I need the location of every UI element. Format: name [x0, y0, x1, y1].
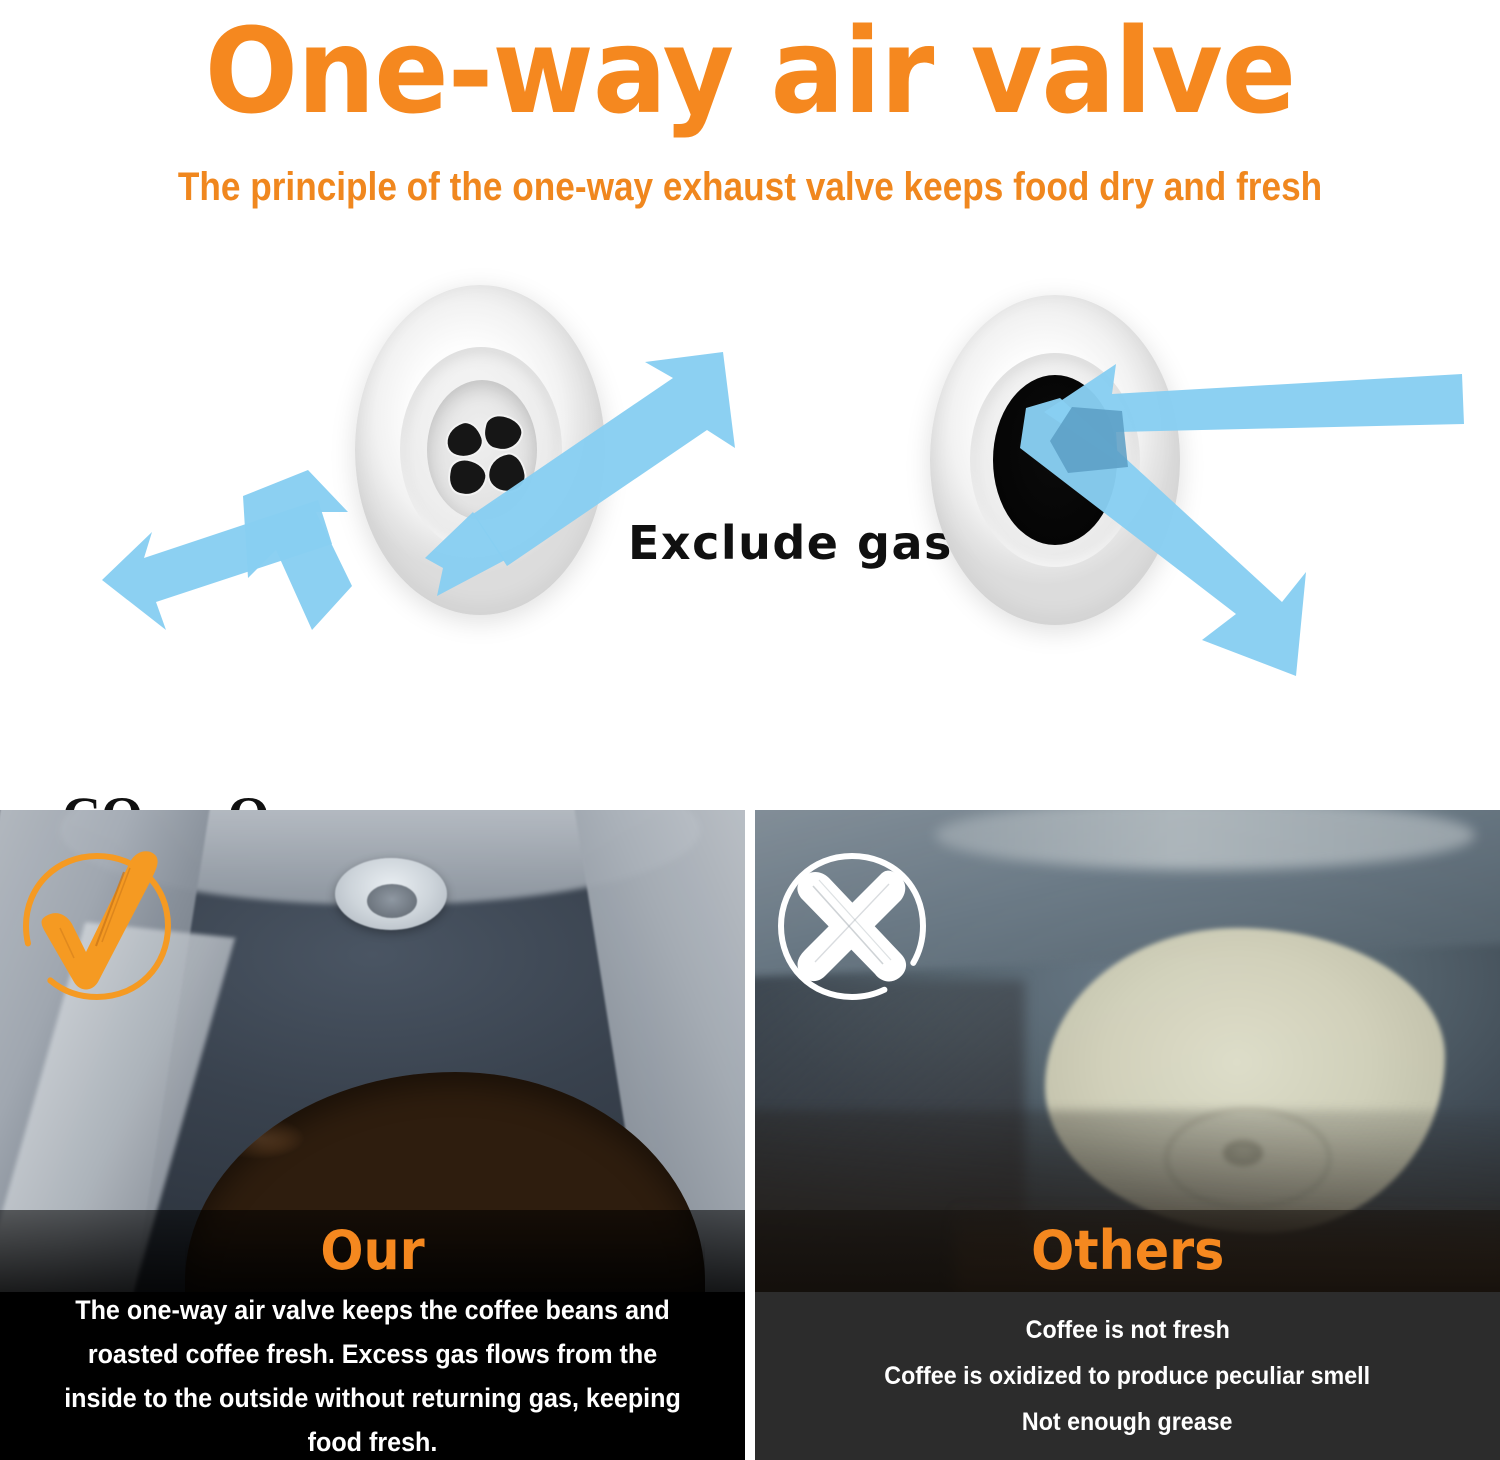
panel-divider	[745, 810, 755, 1460]
cross-mark-circle-icon	[767, 842, 937, 1012]
header-section: One-way air valve The principle of the o…	[0, 0, 1500, 240]
arrow-hole-overlap-shade	[1010, 365, 1150, 515]
caption-others-line-2: Coffee is oxidized to produce peculiar s…	[885, 1353, 1371, 1399]
label-strip-others: Others	[755, 1210, 1500, 1292]
label-others: Others	[1031, 1222, 1224, 1280]
caption-our-text: The one-way air valve keeps the coffee b…	[52, 1288, 693, 1460]
label-strip-our: Our	[0, 1210, 745, 1292]
comparison-section: Our The one-way air valve keeps the coff…	[0, 810, 1500, 1460]
page-title: One-way air valve	[53, 6, 1448, 136]
page-subtitle: The principle of the one-way exhaust val…	[90, 163, 1410, 211]
panel-others: Others Coffee is not fresh Coffee is oxi…	[755, 810, 1500, 1460]
valve-principle-diagram: Exclude gas CO2、 O2 Prevent air from ent…	[0, 240, 1500, 810]
caption-others-line-3: Not enough grease	[1022, 1399, 1233, 1445]
caption-our: The one-way air valve keeps the coffee b…	[0, 1292, 745, 1460]
caption-others-line-1: Coffee is not fresh	[1025, 1307, 1229, 1353]
check-mark-circle-icon	[12, 842, 182, 1012]
bag-valve-photo-center	[367, 884, 417, 918]
label-our: Our	[320, 1222, 424, 1280]
bag-valve-photo	[335, 858, 447, 930]
label-exclude-gas: Exclude gas	[628, 518, 953, 568]
panel-our: Our The one-way air valve keeps the coff…	[0, 810, 745, 1460]
caption-others: Coffee is not fresh Coffee is oxidized t…	[755, 1292, 1500, 1460]
